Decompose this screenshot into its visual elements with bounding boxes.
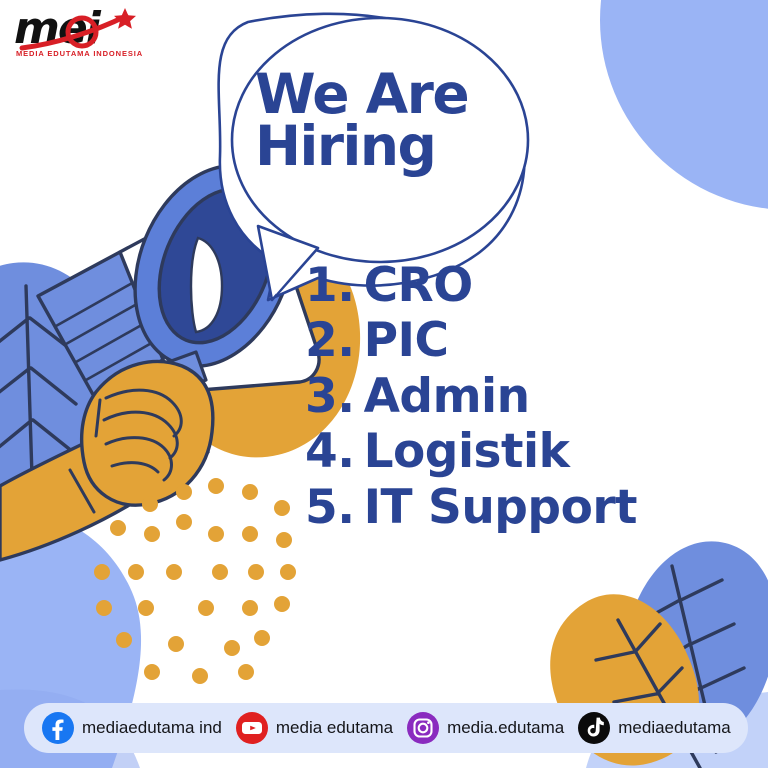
- facebook-icon[interactable]: [42, 712, 74, 744]
- job-title: PIC: [364, 313, 449, 368]
- job-positions-list: 1.CRO2.PIC3.Admin4.Logistik5.IT Support: [305, 258, 637, 535]
- job-item: 2.PIC: [305, 313, 637, 368]
- job-title: IT Support: [364, 480, 637, 535]
- mei-logo: mei MEDIA EDUTAMA INDONESIA: [8, 4, 144, 62]
- instagram-icon[interactable]: [407, 712, 439, 744]
- hiring-poster: mei MEDIA EDUTAMA INDONESIA We Are Hirin…: [0, 0, 768, 768]
- social-handle: media.edutama: [447, 718, 564, 738]
- social-link[interactable]: media.edutama: [407, 712, 564, 744]
- tiktok-icon[interactable]: [578, 712, 610, 744]
- social-handle: media edutama: [276, 718, 393, 738]
- logo-tagline: MEDIA EDUTAMA INDONESIA: [16, 49, 143, 58]
- job-item: 5.IT Support: [305, 480, 637, 535]
- job-number: 5.: [305, 480, 355, 535]
- youtube-icon[interactable]: [236, 712, 268, 744]
- job-number: 2.: [305, 313, 355, 368]
- headline: We Are Hiring: [255, 68, 515, 173]
- job-title: Logistik: [364, 424, 570, 479]
- social-footer-bar: mediaedutama indmedia edutamamedia.eduta…: [24, 703, 748, 753]
- social-link[interactable]: media edutama: [236, 712, 393, 744]
- job-number: 3.: [305, 369, 355, 424]
- social-link[interactable]: mediaedutama: [578, 712, 730, 744]
- headline-line-2: Hiring: [255, 120, 515, 172]
- social-handle: mediaedutama ind: [82, 718, 222, 738]
- job-number: 1.: [305, 258, 355, 313]
- job-item: 1.CRO: [305, 258, 637, 313]
- social-link[interactable]: mediaedutama ind: [42, 712, 222, 744]
- job-number: 4.: [305, 424, 355, 479]
- logo-star-icon: [114, 8, 136, 29]
- job-title: CRO: [364, 258, 473, 313]
- job-item: 4.Logistik: [305, 424, 637, 479]
- job-title: Admin: [364, 369, 530, 424]
- job-item: 3.Admin: [305, 369, 637, 424]
- social-handle: mediaedutama: [618, 718, 730, 738]
